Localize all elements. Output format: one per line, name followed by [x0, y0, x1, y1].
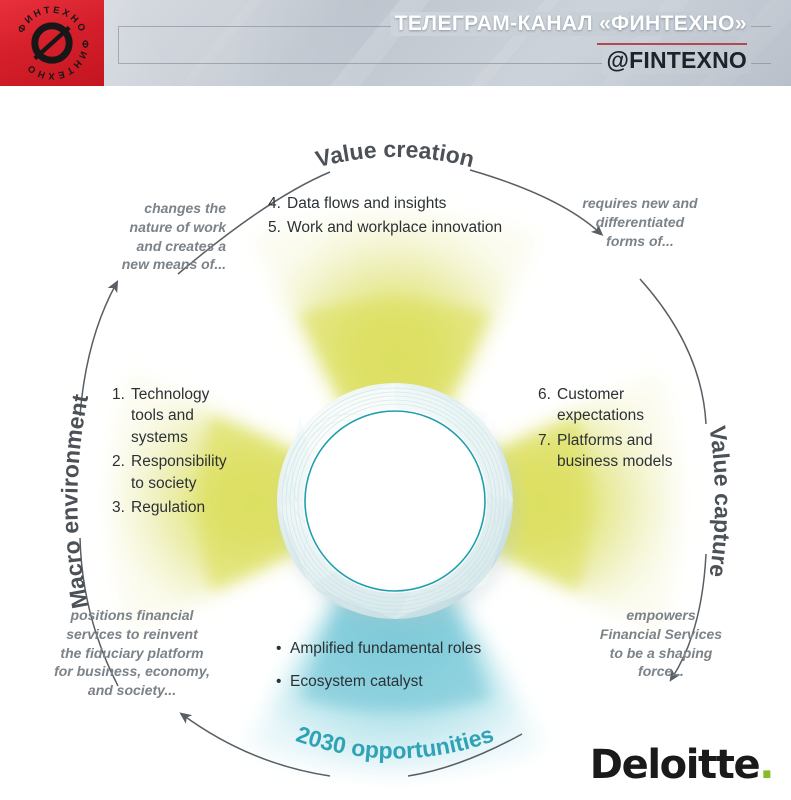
list-item: 2. Responsibility to society — [112, 451, 240, 494]
sector-list-macro-environment: 1. Technology tools and systems 2. Respo… — [112, 384, 240, 521]
list-item-label: Work and workplace innovation — [287, 217, 568, 238]
list-item-number: 4. — [268, 193, 287, 214]
banner-handle[interactable]: @FINTEXNO — [602, 47, 751, 74]
note-bottom-right: empowers Financial Services to be a shap… — [586, 606, 736, 681]
arc-label-value-capture: Value capture — [704, 424, 736, 579]
list-item: • Amplified fundamental roles — [276, 638, 536, 659]
list-item-label: Customer expectations — [557, 384, 688, 427]
list-item-label: Ecosystem catalyst — [290, 671, 536, 692]
note-top-right: requires new and differentiated forms of… — [560, 194, 720, 250]
banner-title: ТЕЛЕГРАМ-КАНАЛ «ФИНТЕХНО» — [391, 12, 751, 36]
banner-accent-underline — [597, 43, 747, 45]
list-item-label: Technology tools and systems — [131, 384, 240, 448]
list-item-number: 2. — [112, 451, 131, 494]
list-item-number: 5. — [268, 217, 287, 238]
list-item: 7. Platforms and business models — [538, 430, 688, 473]
telegram-channel-banner: ФИНТЕХНО ФИНТЕХНО ТЕЛЕГРАМ-КАНАЛ «ФИНТЕХ… — [0, 0, 791, 86]
sector-list-2030-opportunities: • Amplified fundamental roles • Ecosyste… — [276, 638, 536, 696]
list-item-label: Regulation — [131, 497, 240, 518]
list-item-label: Data flows and insights — [287, 193, 568, 214]
sector-list-value-capture: 6. Customer expectations 7. Platforms an… — [538, 384, 688, 476]
sector-list-value-creation: 4. Data flows and insights 5. Work and w… — [268, 193, 568, 242]
no-symbol-icon: ФИНТЕХНО ФИНТЕХНО — [9, 0, 95, 86]
list-item-bullet: • — [276, 638, 290, 659]
list-item-label: Amplified fundamental roles — [290, 638, 536, 659]
deloitte-value-wheel-diagram: Value creation Value capture 2030 opport… — [0, 86, 791, 800]
list-item: • Ecosystem catalyst — [276, 671, 536, 692]
infographic-page: ФИНТЕХНО ФИНТЕХНО ТЕЛЕГРАМ-КАНАЛ «ФИНТЕХ… — [0, 0, 791, 800]
list-item-label: Platforms and business models — [557, 430, 688, 473]
arc-label-macro-environment: Macro environment — [56, 392, 93, 611]
deloitte-wordmark: Deloitte — [590, 742, 759, 788]
list-item-number: 3. — [112, 497, 131, 518]
deloitte-logo: Deloitte. — [590, 742, 773, 788]
list-item-bullet: • — [276, 671, 290, 692]
list-item-number: 6. — [538, 384, 557, 427]
fintexno-logo-badge[interactable]: ФИНТЕХНО ФИНТЕХНО — [0, 0, 104, 86]
note-top-left: changes the nature of work and creates a… — [78, 199, 226, 274]
list-item: 1. Technology tools and systems — [112, 384, 240, 448]
list-item: 3. Regulation — [112, 497, 240, 518]
note-bottom-left: positions financial services to reinvent… — [34, 606, 230, 700]
list-item-number: 7. — [538, 430, 557, 473]
list-item: 6. Customer expectations — [538, 384, 688, 427]
center-hub — [277, 383, 520, 629]
list-item: 4. Data flows and insights — [268, 193, 568, 214]
list-item: 5. Work and workplace innovation — [268, 217, 568, 238]
list-item-number: 1. — [112, 384, 131, 448]
deloitte-green-dot: . — [759, 742, 773, 788]
list-item-label: Responsibility to society — [131, 451, 240, 494]
arc-label-value-creation: Value creation — [313, 136, 477, 172]
